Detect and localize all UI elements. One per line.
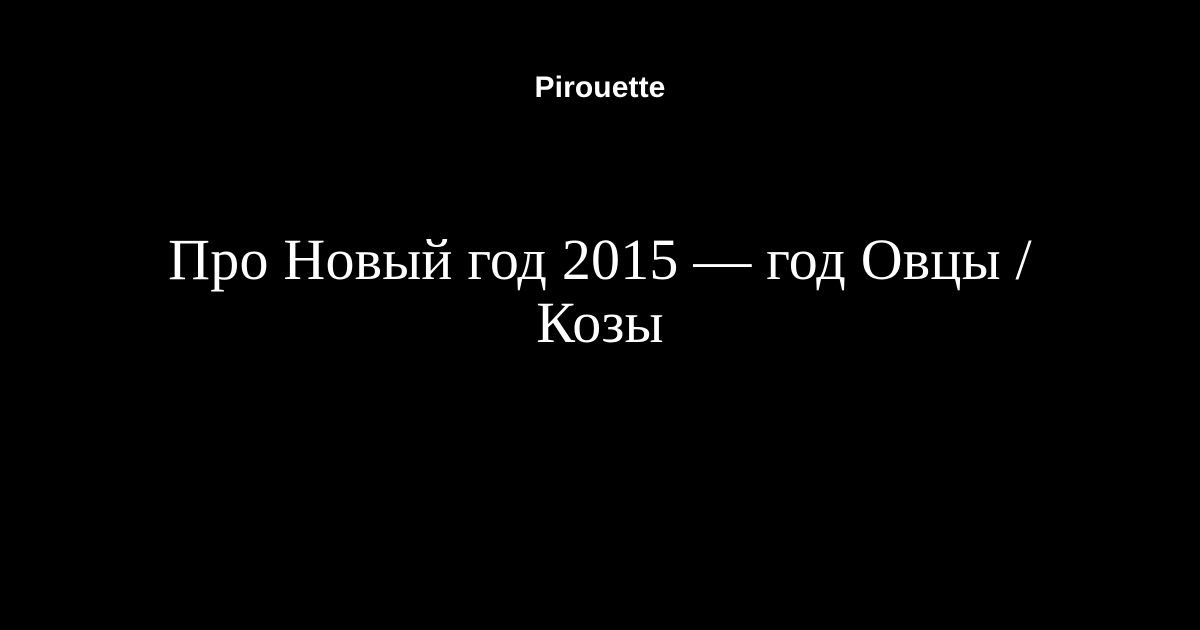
headline-container: Про Новый год 2015 — год Овцы / Козы: [0, 228, 1200, 354]
page-title: Про Новый год 2015 — год Овцы / Козы: [140, 228, 1060, 354]
social-preview-card: Pirouette Про Новый год 2015 — год Овцы …: [0, 0, 1200, 630]
site-name: Pirouette: [0, 68, 1200, 108]
